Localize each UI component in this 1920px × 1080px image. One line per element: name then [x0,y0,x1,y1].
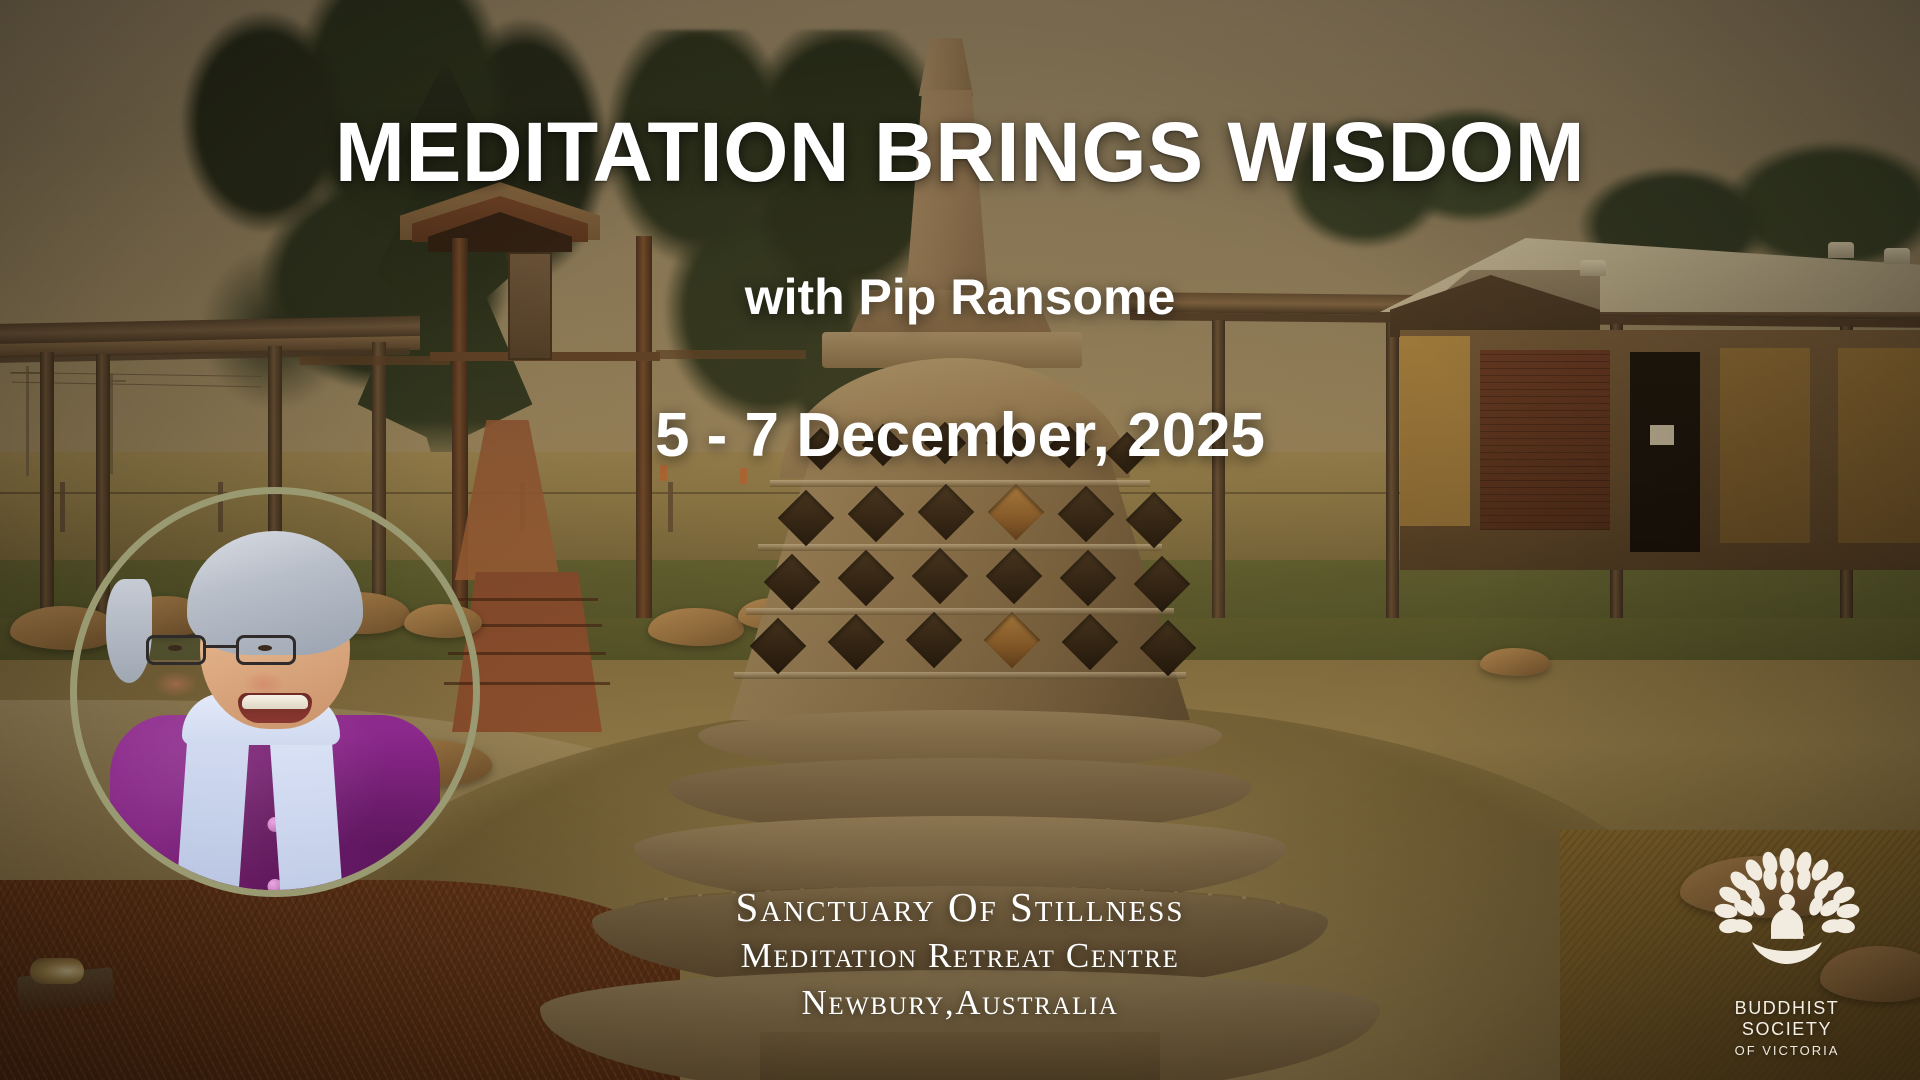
venue-type: Meditation Retreat Centre [0,933,1920,980]
portrait-image [70,487,480,897]
glasses-bridge [206,645,236,648]
portrait-cheek [154,671,198,697]
portrait-eye-right [258,645,272,651]
portrait-glasses [146,635,296,665]
poster-presenter: with Pip Ransome [0,268,1920,326]
presenter-portrait [70,487,480,897]
poster-headline: MEDITATION BRINGS WISDOM [0,110,1920,196]
organisation-logo: BUDDHIST SOCIETY OF VICTORIA [1692,846,1882,1058]
portrait-eye-left [168,645,182,651]
logo-line-2: OF VICTORIA [1692,1043,1882,1058]
venue-block: Sanctuary Of Stillness Meditation Retrea… [0,882,1920,1027]
logo-line-1: BUDDHIST SOCIETY [1692,998,1882,1040]
poster-dates: 5 - 7 December, 2025 [0,400,1920,471]
venue-location: Newbury,Australia [0,980,1920,1027]
venue-name: Sanctuary Of Stillness [0,882,1920,933]
portrait-teeth [242,695,308,709]
text-overlay: MEDITATION BRINGS WISDOM with Pip Ransom… [0,0,1920,1080]
bodhi-tree-buddha-icon [1692,846,1882,996]
poster-canvas: MEDITATION BRINGS WISDOM with Pip Ransom… [0,0,1920,1080]
portrait-hair-left [106,579,152,683]
portrait-mouth [238,693,312,723]
